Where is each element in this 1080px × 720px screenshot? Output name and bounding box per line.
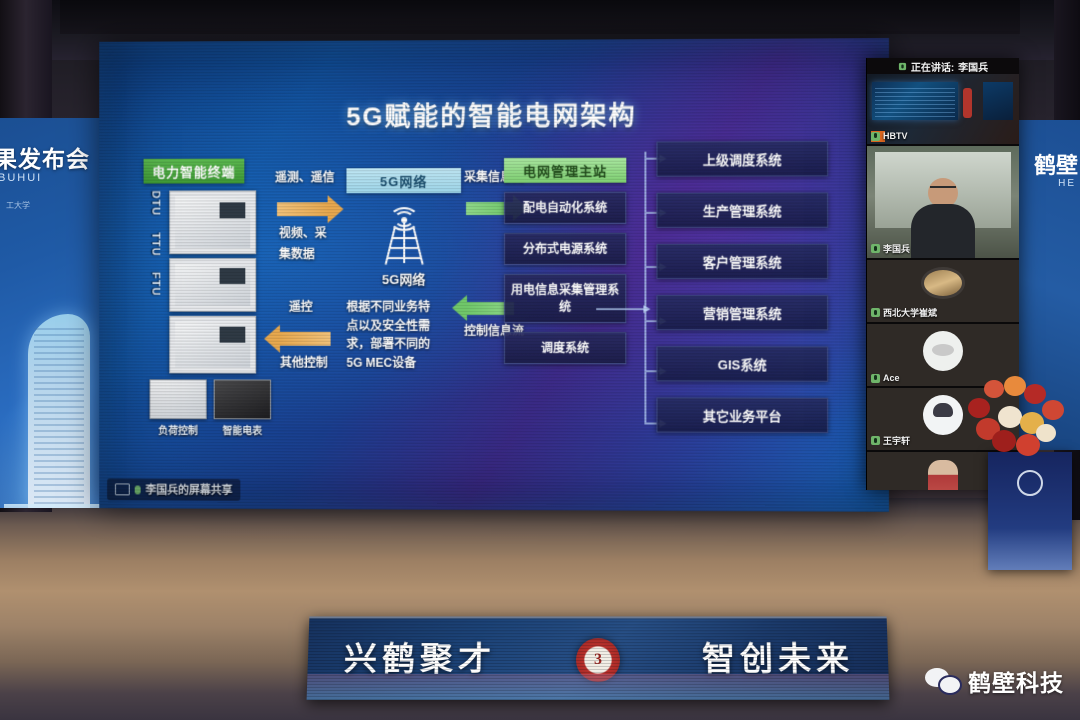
banner-seal-emblem: 3 <box>576 638 620 682</box>
wechat-icon <box>925 668 959 694</box>
backdrop-left-subtitle: 工大学 <box>6 200 30 211</box>
skyscraper-graphic <box>28 314 90 508</box>
participant-name: 西北大学崔斌 <box>883 306 937 319</box>
stage-banner: 兴鹤聚才 3 智创未来 <box>307 616 890 700</box>
microphone-icon <box>871 244 880 253</box>
wechat-watermark: 鹤壁科技 <box>925 664 1064 698</box>
banner-left-text: 兴鹤聚才 <box>343 632 496 680</box>
banner-haze <box>307 674 890 700</box>
microphone-icon <box>871 308 880 317</box>
backdrop-right-pinyin: HE <box>1058 178 1076 189</box>
avatar <box>923 395 963 435</box>
photo-scene: 果发布会 BUHUI 工大学 鹤壁 HE 5G赋能的智能电网架构 电力智能终端 … <box>0 0 1080 720</box>
tile-body-graphic <box>911 204 975 258</box>
podium-skyline-graphic <box>988 528 1072 570</box>
screen-top-frame <box>60 0 1020 34</box>
watermark-label: 鹤壁科技 <box>968 664 1064 698</box>
backdrop-right-title: 鹤壁 <box>1034 148 1078 180</box>
participant-name: 李国兵 <box>883 242 910 255</box>
participant-name: HBTV <box>883 131 908 141</box>
tile-screen-graphic-2 <box>983 82 1013 120</box>
participant-name: Ace <box>883 373 900 383</box>
tile-glasses-graphic <box>930 186 956 194</box>
podium-emblem-icon <box>1017 470 1043 496</box>
participant-name-row: 王宇轩 <box>871 434 910 447</box>
backdrop-wall-left: 果发布会 BUHUI 工大学 <box>0 118 112 508</box>
participant-name-row: 西北大学崔斌 <box>871 306 937 319</box>
tile-screen-graphic <box>872 82 958 120</box>
banner-seal-text: 3 <box>594 651 602 669</box>
skyscraper-base-graphic <box>4 504 108 508</box>
participant-name-row: 李国兵 <box>871 242 910 255</box>
banner-right-text: 智创未来 <box>702 632 855 680</box>
backdrop-left-pinyin: BUHUI <box>0 172 42 184</box>
microphone-icon <box>871 436 880 445</box>
flower-bouquet <box>962 372 1072 464</box>
avatar <box>924 270 962 296</box>
participant-tile-hbtv[interactable]: HBTV <box>867 74 1019 146</box>
speaker-mic-icon <box>899 62 906 69</box>
avatar <box>928 460 958 490</box>
participant-tile-xibei[interactable]: 西北大学崔斌 <box>867 260 1019 324</box>
podium <box>988 452 1072 570</box>
participant-name-row: Ace <box>871 373 900 383</box>
main-led-screen: 5G赋能的智能电网架构 电力智能终端 DTU TTU FTU 负荷控制 智能电表 <box>99 38 889 512</box>
active-speaker-bar: 正在讲话: 李国兵 <box>867 58 1019 74</box>
participant-name: 王宇轩 <box>883 434 910 447</box>
screen-vignette <box>99 38 889 512</box>
microphone-icon <box>871 374 880 383</box>
speaking-name: 李国兵 <box>958 59 988 74</box>
participant-name-row: HBTV <box>871 131 908 141</box>
avatar <box>923 331 963 371</box>
tile-person-graphic <box>963 88 972 118</box>
microphone-icon <box>871 132 880 141</box>
backdrop-left-title: 果发布会 <box>0 140 90 174</box>
speaking-prefix: 正在讲话: <box>911 59 954 74</box>
participant-tile-liguobing[interactable]: 李国兵 <box>867 146 1019 260</box>
